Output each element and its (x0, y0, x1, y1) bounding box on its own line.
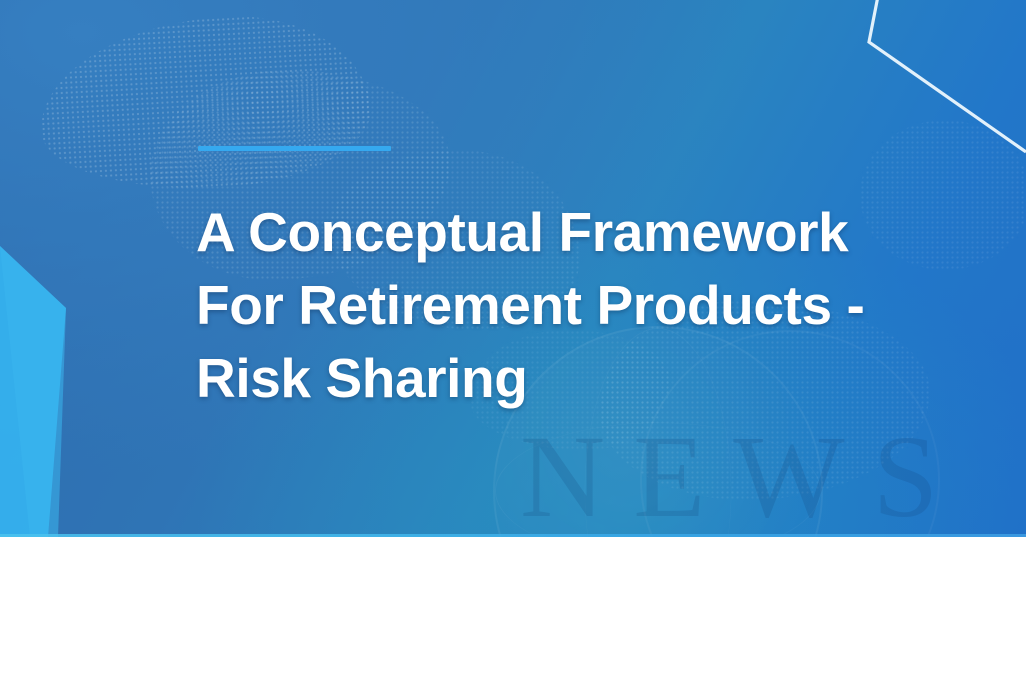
news-watermark-text: NEWS (520, 418, 1020, 536)
page-title: A Conceptual Framework For Retirement Pr… (196, 196, 956, 415)
headline-line-2: For Retirement Products - (196, 269, 956, 342)
left-wedge-decoration (0, 0, 130, 537)
headline-line-3: Risk Sharing (196, 342, 956, 415)
accent-rule (198, 146, 391, 151)
hero-banner: NEWS A Conceptual Framework For Retireme… (0, 0, 1026, 537)
headline-line-1: A Conceptual Framework (196, 196, 956, 269)
corner-chevron-line-decoration (846, 0, 1026, 200)
slide-footer: THE WORLD BANK (0, 537, 1026, 681)
presentation-slide: NEWS A Conceptual Framework For Retireme… (0, 0, 1026, 681)
